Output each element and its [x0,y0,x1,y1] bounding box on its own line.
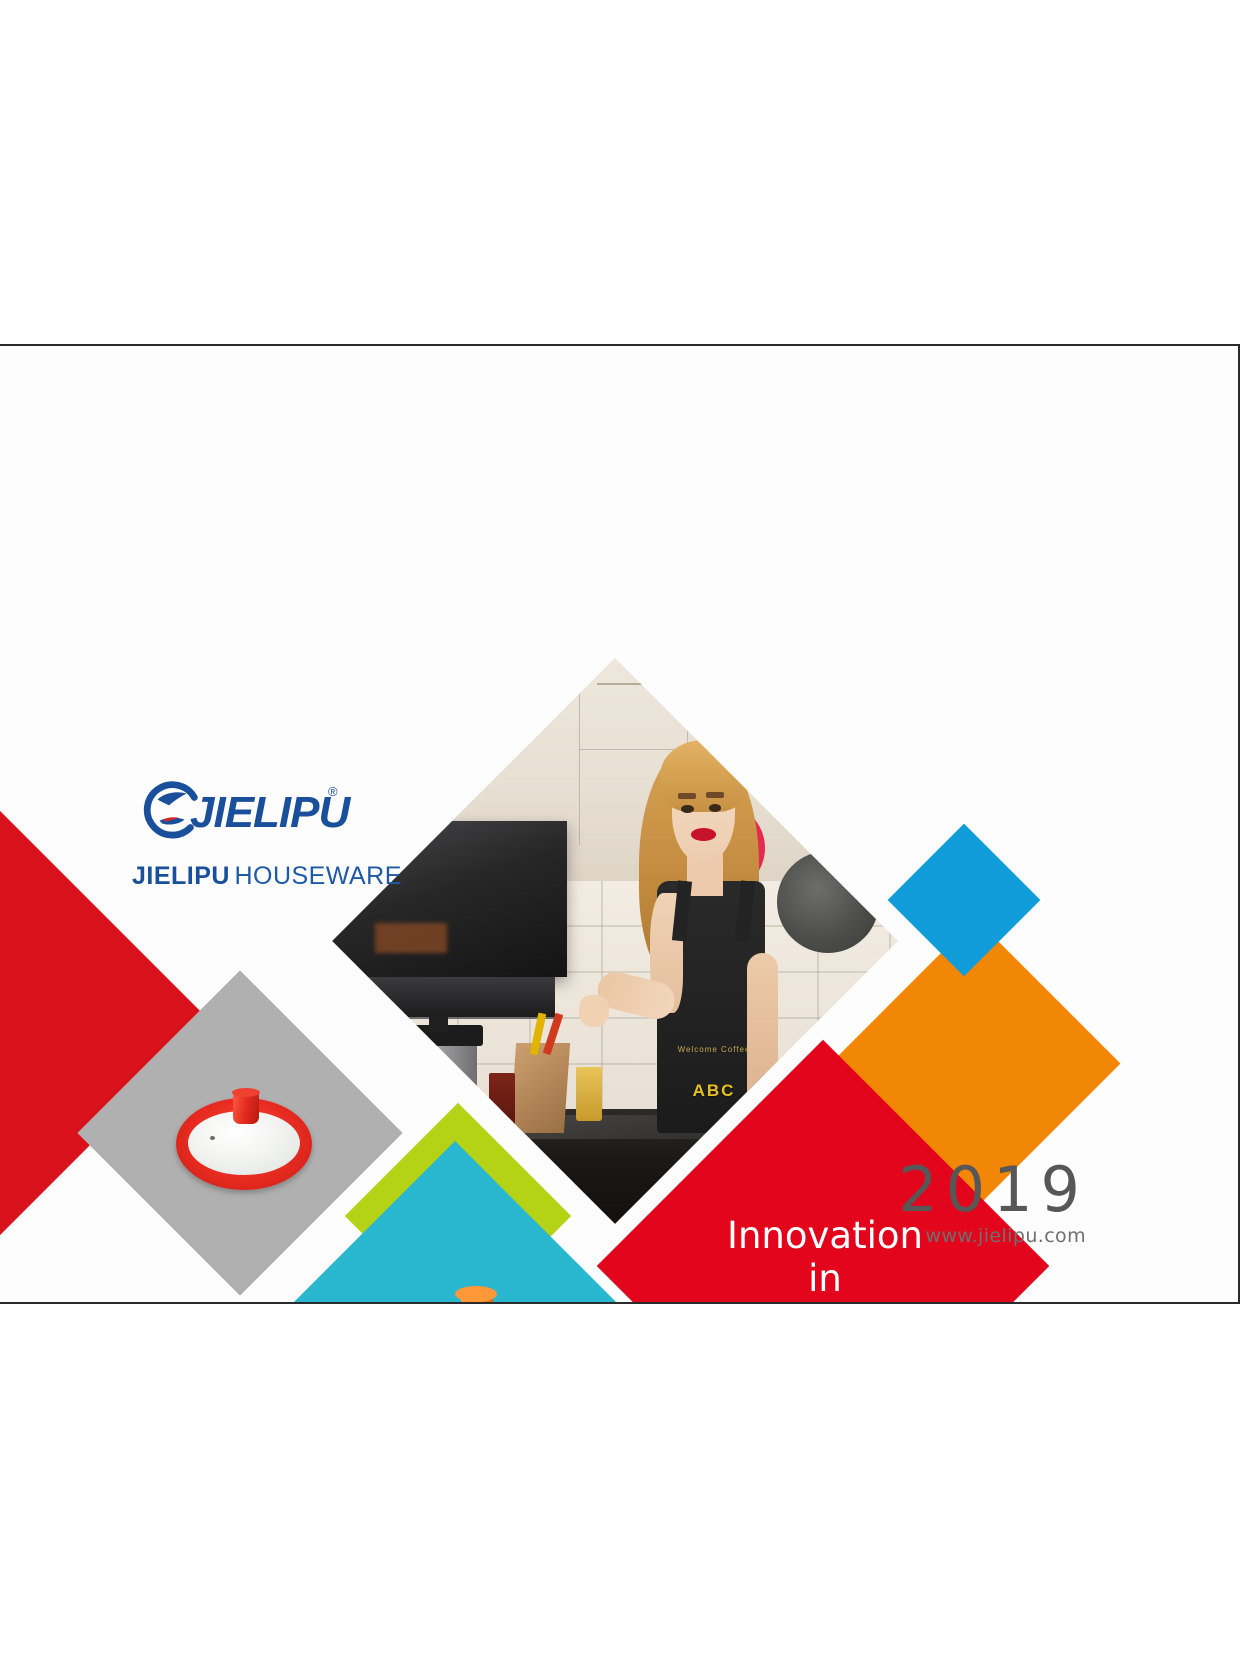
blue-diamond-small [888,824,1041,977]
model-eye [709,804,722,812]
pot-lid-knob [429,1010,448,1032]
red-silicone-glass-lid [176,1098,312,1190]
model-eye [681,805,694,813]
model-brow [678,793,696,798]
brand-lockup: JIELIPU ® JIELIPU HOUSEWARE [132,778,462,891]
registered-trademark-icon: ® [328,784,338,799]
lid-steam-vent [210,1136,215,1140]
wooden-knife-block [510,1043,570,1133]
logo-row: JIELIPU ® [132,778,462,842]
wall-hung-pan [777,851,879,953]
apron-letters: ABC [669,1061,759,1121]
brand-name-light: HOUSEWARE [234,862,401,890]
website-url[interactable]: www.jielipu.com [898,1225,1086,1247]
wordmark-jielipu: JIELIPU [190,788,349,838]
spice-jar [489,1073,515,1127]
cabinet-seam [579,665,580,845]
tagline-line-2: in [700,1257,950,1300]
cover-knob-cap [455,1286,497,1302]
model-hair-front [660,740,747,812]
catalog-year: 2019 [898,1159,1088,1221]
spice-jar [576,1067,602,1121]
orange-collapsible-lid [370,1301,582,1302]
model-brow [706,792,724,797]
hood-reflection [375,923,447,953]
hood-glass-panel [351,977,555,1019]
brand-name-line: JIELIPU HOUSEWARE [132,862,462,891]
catalog-page-sheet: Welcome Coffee ABC [0,344,1240,1304]
apron-subtext: Welcome Coffee [663,1037,765,1061]
model-lips [691,828,716,841]
model-left-hand [579,995,609,1027]
year-and-website: 2019 www.jielipu.com [898,1159,1088,1247]
cabinet-handle [597,683,645,685]
tagline-line-3: future [700,1301,950,1302]
cover-artwork: Welcome Coffee ABC [0,346,1238,1302]
brand-name-bold: JIELIPU [132,862,230,890]
